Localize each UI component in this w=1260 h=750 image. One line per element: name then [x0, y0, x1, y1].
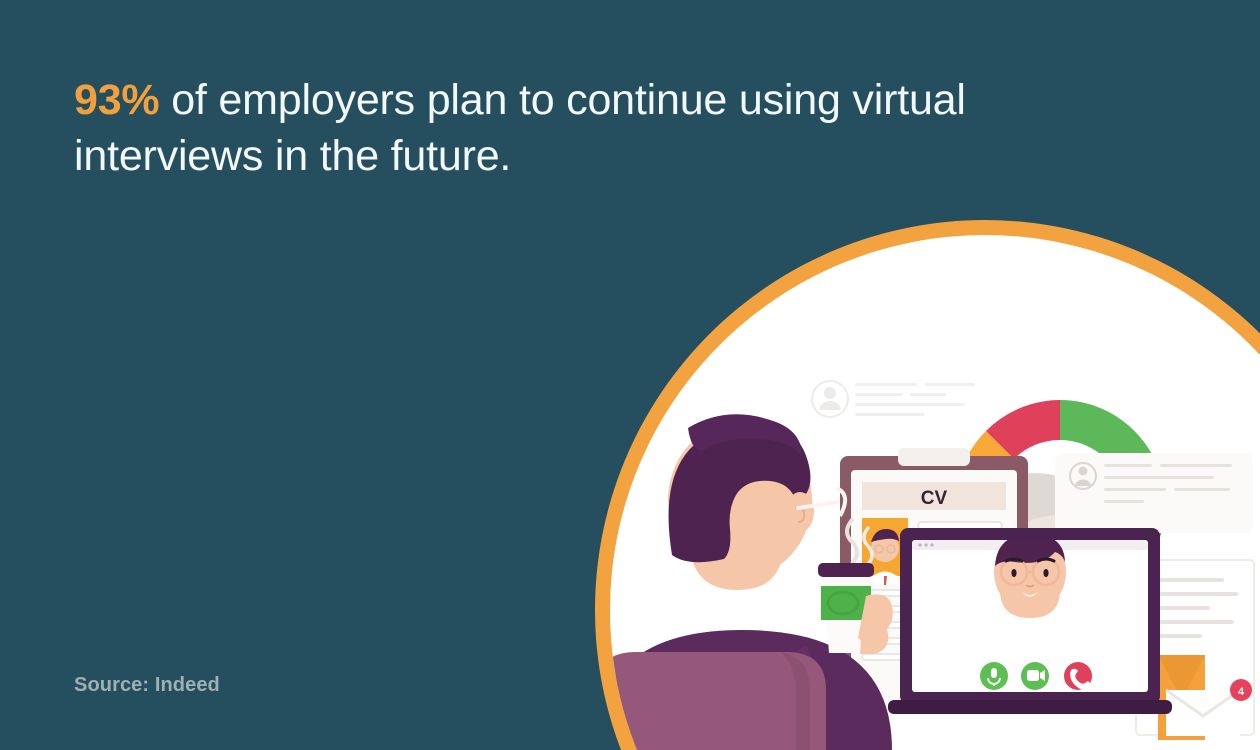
call-controls[interactable] — [980, 662, 1092, 690]
stat-percentage: 93% — [74, 76, 159, 124]
badge-count: 4 — [1238, 686, 1245, 698]
cv-heading: CV — [921, 488, 948, 509]
source-attribution: Source: Indeed — [74, 674, 220, 697]
headline-rest: of employers plan to continue using virt… — [74, 76, 966, 180]
stat-card: 4 CV — [0, 0, 1260, 750]
page-title: 93% of employers plan to continue using … — [74, 72, 1054, 184]
video-camera-icon — [1027, 670, 1039, 681]
laptop — [888, 528, 1172, 714]
mic-icon — [991, 668, 997, 678]
ear — [786, 492, 814, 532]
cv-photo-person — [871, 529, 899, 585]
